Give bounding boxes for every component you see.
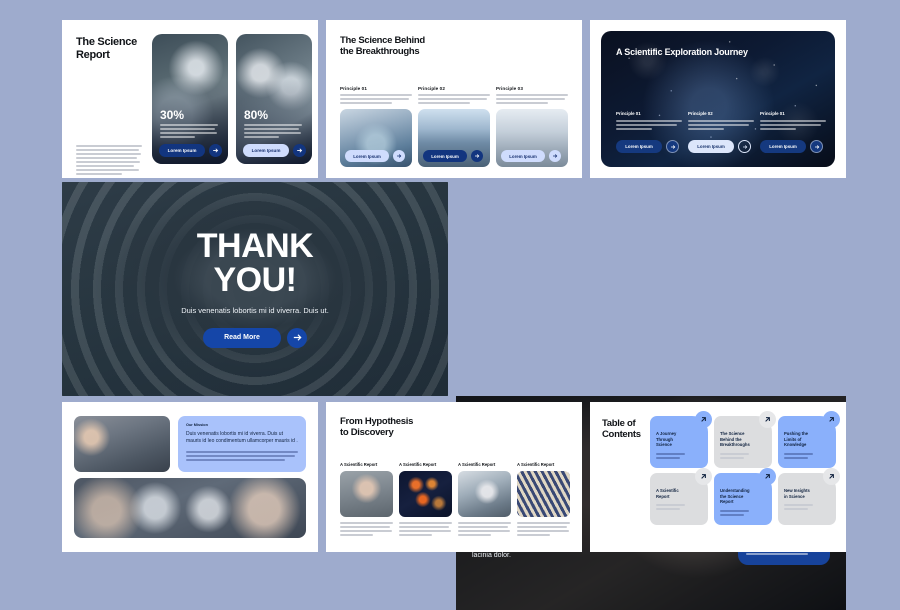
report-description (340, 522, 393, 536)
report-image (340, 471, 393, 517)
toc-item-title: Understanding the Science Report (720, 488, 766, 505)
arrow-right-icon[interactable] (293, 144, 306, 157)
thank-you-line-1: THANK (197, 230, 313, 263)
report-image (399, 471, 452, 517)
principle-description (340, 94, 412, 104)
stat-card[interactable]: 30% Lorem Ipsum (152, 34, 228, 164)
toc-item-subtext (656, 453, 702, 459)
lorem-ipsum-button[interactable]: Lorem Ipsum (423, 150, 467, 162)
principle-column[interactable]: Principle 01 Lorem Ipsum (616, 111, 682, 153)
slide-our-mission[interactable]: Our Mission Duis venenatis lobortis mi i… (62, 402, 318, 552)
slide-science-behind-breakthroughs[interactable]: The Science Behind the Breakthroughs Pri… (326, 20, 582, 178)
principle-cta-group[interactable]: Lorem Ipsum (760, 140, 826, 153)
report-label: A Scientific Report (458, 462, 511, 467)
principle-cta-group[interactable]: Lorem Ipsum (423, 150, 483, 162)
lorem-ipsum-button[interactable]: Lorem Ipsum (616, 140, 662, 153)
principle-label: Principle 01 (760, 111, 826, 116)
principle-description (496, 94, 568, 104)
toc-item[interactable]: Pushing the Limits of Knowledge (778, 416, 836, 468)
arrow-up-right-icon[interactable] (695, 411, 712, 428)
slide-thank-you[interactable]: THANK YOU! Duis venenatis lobortis mi id… (62, 182, 448, 396)
mission-body: Duis venenatis lobortis mi id viverra. D… (186, 431, 298, 446)
principle-description (418, 94, 490, 104)
principle-cta-group[interactable]: Lorem Ipsum (501, 150, 561, 162)
principle-cta-group[interactable]: Lorem Ipsum (616, 140, 682, 153)
principle-label: Principle 03 (496, 86, 568, 91)
report-description (458, 522, 511, 536)
report-column[interactable]: A Scientific Report (517, 462, 570, 536)
toc-item-subtext (720, 453, 766, 459)
toc-item-title: New Insights in Science (784, 488, 830, 499)
read-more-group[interactable]: Read More (203, 328, 307, 348)
principle-image[interactable]: Lorem Ipsum (340, 109, 412, 167)
arrow-up-right-icon[interactable] (823, 411, 840, 428)
thank-you-line-2: YOU! (214, 264, 297, 297)
body-text-block (76, 145, 142, 175)
slide-table-of-contents[interactable]: Table of Contents A Journey Through Scie… (590, 402, 846, 552)
report-label: A Scientific Report (399, 462, 452, 467)
arrow-up-right-icon[interactable] (759, 468, 776, 485)
toc-grid: A Journey Through Science The Science Be… (650, 416, 836, 525)
toc-item-title: A Journey Through Science (656, 431, 702, 448)
lorem-ipsum-button[interactable]: Lorem Ipsum (345, 150, 389, 162)
principle-label: Principle 01 (340, 86, 412, 91)
lorem-ipsum-button[interactable]: Lorem Ipsum (688, 140, 734, 153)
stat-value: 80% (244, 108, 268, 122)
slide-from-hypothesis-to-discovery[interactable]: From Hypothesis to Discovery A Scientifi… (326, 402, 582, 552)
principle-label: Principle 02 (688, 111, 754, 116)
stat-cta-group[interactable]: Lorem Ipsum (159, 144, 222, 157)
toc-item[interactable]: Understanding the Science Report (714, 473, 772, 525)
arrow-up-right-icon[interactable] (823, 468, 840, 485)
page-title: A Scientific Exploration Journey (616, 47, 748, 57)
mission-card: Our Mission Duis venenatis lobortis mi i… (178, 416, 306, 472)
principle-image[interactable]: Lorem Ipsum (496, 109, 568, 167)
stat-card[interactable]: 80% Lorem Ipsum (236, 34, 312, 164)
principle-description (760, 120, 826, 130)
toc-item-title: The Science Behind the Breakthroughs (720, 431, 766, 448)
slide-science-report[interactable]: The Science Report 30% Lorem Ipsum 8 (62, 20, 318, 178)
thank-you-subtitle: Duis venenatis lobortis mi id viverra. D… (181, 306, 329, 315)
toc-item-title: A Scientific Report (656, 488, 702, 499)
report-column[interactable]: A Scientific Report (458, 462, 511, 536)
toc-item[interactable]: The Science Behind the Breakthroughs (714, 416, 772, 468)
principle-cta-group[interactable]: Lorem Ipsum (688, 140, 754, 153)
report-description (399, 522, 452, 536)
report-label: A Scientific Report (517, 462, 570, 467)
principle-column[interactable]: Principle 02 Lorem Ipsum (418, 86, 490, 167)
mission-title: Our Mission (186, 423, 298, 427)
toc-item-title: Pushing the Limits of Knowledge (784, 431, 830, 448)
toc-item[interactable]: New Insights in Science (778, 473, 836, 525)
principle-column[interactable]: Principle 02 Lorem Ipsum (688, 111, 754, 153)
mission-footnote (186, 451, 298, 461)
thank-you-content: THANK YOU! Duis venenatis lobortis mi id… (62, 182, 448, 396)
principle-column[interactable]: Principle 01 Lorem Ipsum (760, 111, 826, 153)
principle-image[interactable]: Lorem Ipsum (418, 109, 490, 167)
read-more-button[interactable]: Read More (203, 328, 281, 348)
report-label: A Scientific Report (340, 462, 393, 467)
lorem-ipsum-button[interactable]: Lorem Ipsum (760, 140, 806, 153)
arrow-right-icon[interactable] (666, 140, 679, 153)
principle-cta-group[interactable]: Lorem Ipsum (345, 150, 405, 162)
report-image (517, 471, 570, 517)
report-column[interactable]: A Scientific Report (399, 462, 452, 536)
principle-description (688, 120, 754, 130)
lorem-ipsum-button[interactable]: Lorem Ipsum (159, 144, 205, 157)
toc-item[interactable]: A Scientific Report (650, 473, 708, 525)
page-title: The Science Behind the Breakthroughs (340, 35, 470, 57)
toc-item[interactable]: A Journey Through Science (650, 416, 708, 468)
principle-column[interactable]: Principle 01 Lorem Ipsum (340, 86, 412, 167)
arrow-right-icon[interactable] (738, 140, 751, 153)
students-photo (74, 478, 306, 538)
page-title: From Hypothesis to Discovery (340, 416, 460, 438)
slide-deck-board: The Science Report 30% Lorem Ipsum 8 (0, 0, 900, 600)
arrow-right-icon[interactable] (287, 328, 307, 348)
toc-item-subtext (656, 504, 702, 510)
stat-value: 30% (160, 108, 184, 122)
principle-column[interactable]: Principle 03 Lorem Ipsum (496, 86, 568, 167)
slide-scientific-exploration-journey[interactable]: A Scientific Exploration Journey Princip… (590, 20, 846, 178)
principle-label: Principle 02 (418, 86, 490, 91)
arrow-up-right-icon[interactable] (695, 468, 712, 485)
stat-description (244, 124, 302, 138)
arrow-right-icon[interactable] (549, 150, 561, 162)
report-description (517, 522, 570, 536)
arrow-right-icon[interactable] (393, 150, 405, 162)
arrow-right-icon[interactable] (471, 150, 483, 162)
report-image (458, 471, 511, 517)
audience-photo (74, 416, 170, 472)
toc-item-subtext (720, 510, 766, 516)
toc-item-subtext (784, 453, 830, 459)
report-column[interactable]: A Scientific Report (340, 462, 393, 536)
stat-description (160, 124, 218, 138)
arrow-up-right-icon[interactable] (759, 411, 776, 428)
lorem-ipsum-button[interactable]: Lorem Ipsum (501, 150, 545, 162)
space-background: A Scientific Exploration Journey Princip… (601, 31, 835, 167)
toc-item-subtext (784, 504, 830, 510)
principle-label: Principle 01 (616, 111, 682, 116)
lorem-ipsum-button[interactable]: Lorem Ipsum (243, 144, 289, 157)
principle-description (616, 120, 682, 130)
stat-cta-group[interactable]: Lorem Ipsum (243, 144, 306, 157)
arrow-right-icon[interactable] (810, 140, 823, 153)
arrow-right-icon[interactable] (209, 144, 222, 157)
